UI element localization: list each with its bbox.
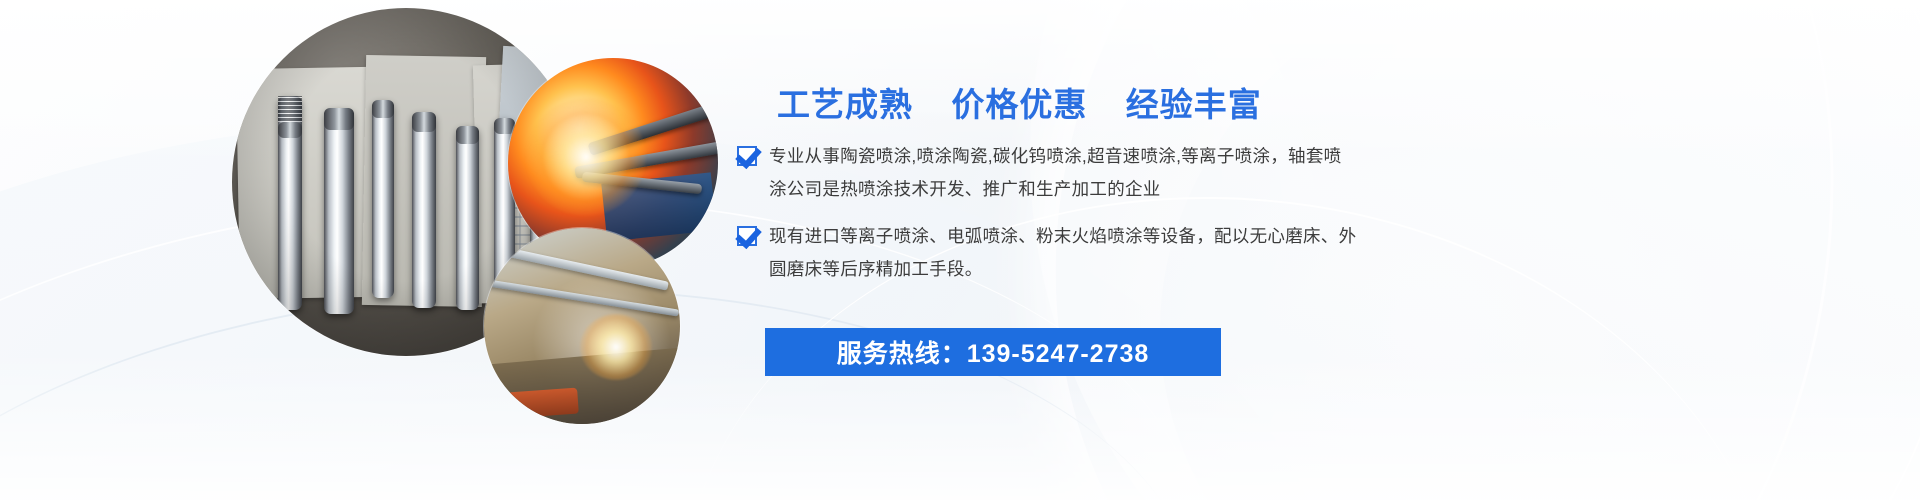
banner-content: 工艺成熟 价格优惠 经验丰富 专业从事陶瓷喷涂,喷涂陶瓷,碳化钨喷涂,超音速喷涂… <box>737 0 1747 500</box>
headline-part-3: 经验丰富 <box>1126 86 1262 123</box>
hotline-text: 服务热线：139-5247-2738 <box>837 334 1150 370</box>
list-item-text: 现有进口等离子喷涂、电弧喷涂、粉末火焰喷涂等设备，配以无心磨床、外圆磨床等后序精… <box>769 220 1357 286</box>
hotline-bar[interactable]: 服务热线：139-5247-2738 <box>765 328 1221 376</box>
welding-glow <box>580 314 652 380</box>
checkmark-icon <box>737 146 757 166</box>
checkmark-icon <box>737 226 757 246</box>
banner-headline: 工艺成熟 价格优惠 经验丰富 <box>777 78 1262 126</box>
list-item: 专业从事陶瓷喷涂,喷涂陶瓷,碳化钨喷涂,超音速喷涂,等离子喷涂，轴套喷涂公司是热… <box>737 140 1357 206</box>
promo-banner: 工艺成熟 价格优惠 经验丰富 专业从事陶瓷喷涂,喷涂陶瓷,碳化钨喷涂,超音速喷涂… <box>0 0 1920 500</box>
list-item-text: 专业从事陶瓷喷涂,喷涂陶瓷,碳化钨喷涂,超音速喷涂,等离子喷涂，轴套喷涂公司是热… <box>769 140 1357 206</box>
list-item: 现有进口等离子喷涂、电弧喷涂、粉末火焰喷涂等设备，配以无心磨床、外圆磨床等后序精… <box>737 220 1357 286</box>
headline-part-2: 价格优惠 <box>951 86 1087 123</box>
feature-list: 专业从事陶瓷喷涂,喷涂陶瓷,碳化钨喷涂,超音速喷涂,等离子喷涂，轴套喷涂公司是热… <box>737 140 1357 300</box>
headline-part-1: 工艺成熟 <box>777 86 913 123</box>
flame-glow <box>526 98 646 216</box>
tool-handle <box>507 388 579 419</box>
welding-sparks-photo <box>484 228 680 424</box>
